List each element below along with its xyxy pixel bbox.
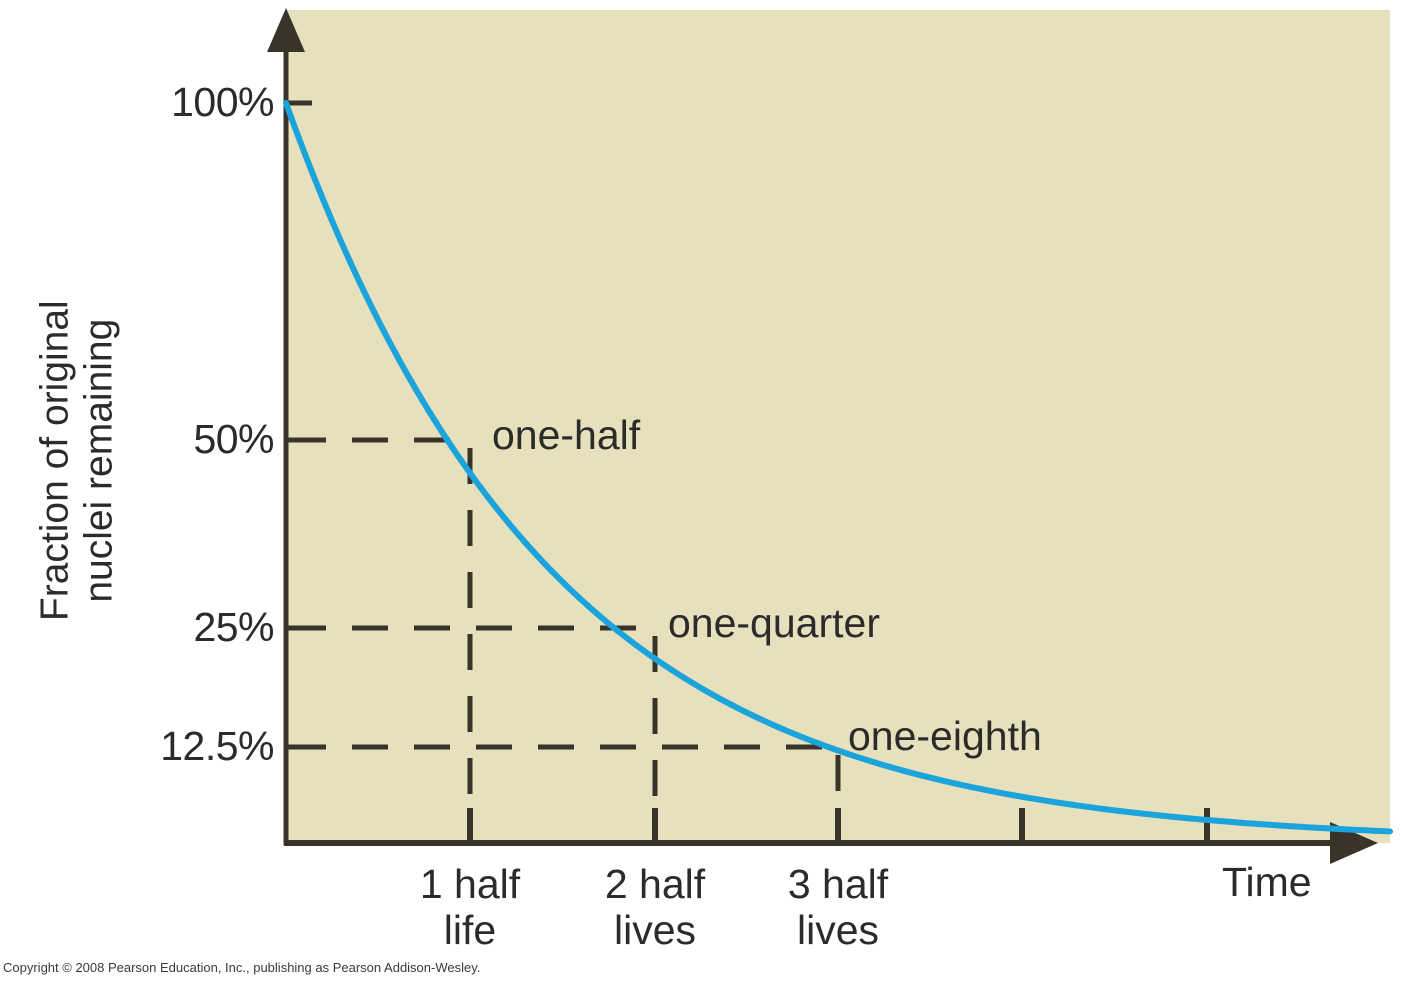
annotation-one-quarter: one-quarter xyxy=(668,603,880,644)
annotation-one-eighth: one-eighth xyxy=(848,716,1042,757)
copyright-notice: Copyright © 2008 Pearson Education, Inc.… xyxy=(3,961,480,974)
decay-curve-figure: 100% 50% 25% 12.5% Fraction of original … xyxy=(0,0,1402,984)
y-axis-arrowhead xyxy=(267,8,305,52)
y-tick-label-50: 50% xyxy=(193,419,274,460)
y-axis-title: Fraction of original nuclei remaining xyxy=(33,251,120,671)
decay-curve-line xyxy=(286,103,1390,831)
y-tick-label-100: 100% xyxy=(171,82,274,123)
y-tick-label-12-5: 12.5% xyxy=(160,726,274,767)
x-tick-label-3-half-lives: 3 half lives xyxy=(728,862,948,954)
annotation-one-half: one-half xyxy=(492,415,640,456)
chart-graphics xyxy=(0,0,1402,984)
x-axis-title: Time xyxy=(1222,862,1312,903)
y-tick-label-25: 25% xyxy=(193,607,274,648)
